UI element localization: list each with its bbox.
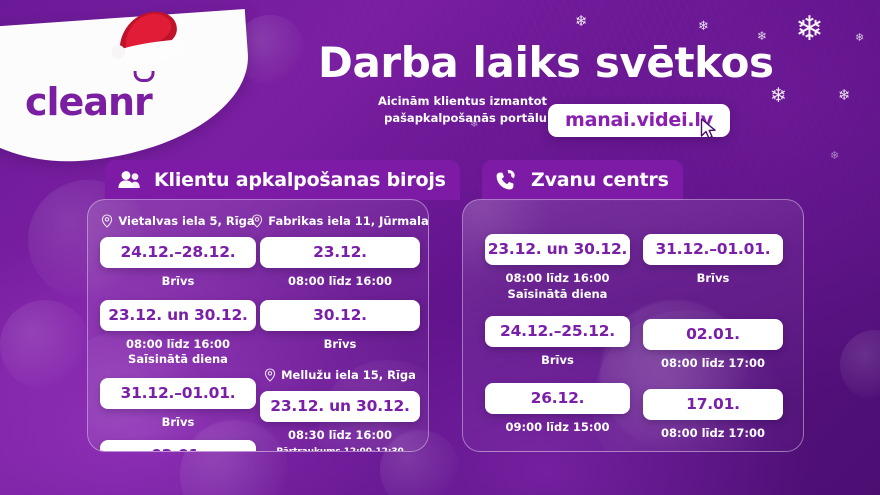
schedule-entry: 24.12.–25.12. Brīvs	[485, 316, 630, 369]
schedule-entry: 23.12. un 30.12. 08:00 līdz 16:00 Saīsin…	[485, 234, 630, 302]
hours-note: 08:00 līdz 16:00 Saīsinātā diena	[485, 271, 630, 302]
location-text: Vietalvas iela 5, Rīga	[118, 214, 254, 228]
location-text: Fabrikas iela 11, Jūrmala	[268, 214, 428, 228]
schedule-entry: 26.12. 09:00 līdz 15:00	[485, 383, 630, 436]
hours-note: Brīvs	[643, 271, 783, 287]
panel-call-center: 23.12. un 30.12. 08:00 līdz 16:00 Saīsin…	[462, 199, 804, 452]
date-chip: 23.12.	[260, 237, 420, 268]
page-subtitle-line2: pašapkalpošanās portālu	[362, 110, 547, 127]
phone-icon	[493, 167, 519, 193]
call-center-column-2: 31.12.–01.01. Brīvs 02.01. 08:00 līdz 17…	[643, 234, 783, 452]
break-note: Pārtraukums 12:00-12:30	[260, 446, 420, 452]
map-pin-icon	[251, 214, 263, 228]
logo-wordmark: cleanr	[25, 80, 152, 124]
page-subtitle-line1: Aicinām klientus izmantot	[362, 93, 547, 110]
schedule-entry: 02.01. 08:00 līdz 17:00	[100, 440, 256, 452]
snowflake-icon: ❄	[838, 88, 851, 103]
sub-location-label: Mellužu iela 15, Rīga	[264, 368, 416, 382]
santa-hat-icon	[112, 8, 184, 70]
date-chip: 23.12. un 30.12.	[260, 391, 420, 422]
panel-office: Vietalvas iela 5, Rīga 24.12.–28.12. Brī…	[87, 199, 429, 452]
date-chip: 31.12.–01.01.	[643, 234, 783, 265]
snowflake-icon: ❄	[575, 14, 588, 29]
hours-note: 08:00 līdz 16:00 Saīsinātā diena	[100, 337, 256, 368]
schedule-entry: 24.12.–28.12. Brīvs	[100, 237, 256, 290]
office-column-vietalvas: Vietalvas iela 5, Rīga 24.12.–28.12. Brī…	[100, 214, 256, 452]
schedule-entry: 30.12. Brīvs	[260, 300, 420, 353]
hours-note: 08:00 līdz 16:00	[260, 274, 420, 290]
date-chip: 24.12.–25.12.	[485, 316, 630, 347]
panel-tab-office: Klientu apkalpošanas birojs	[105, 160, 460, 200]
schedule-entry: 23.12. un 30.12. 08:30 līdz 16:00 Pārtra…	[260, 391, 420, 452]
snowflake-icon: ❄	[698, 20, 709, 33]
panel-title-office: Klientu apkalpošanas birojs	[154, 169, 446, 191]
location-label: Vietalvas iela 5, Rīga	[101, 214, 254, 228]
logo-letter-r: r	[134, 80, 152, 124]
schedule-entry: 31.12.–01.01. Brīvs	[643, 234, 783, 287]
panel-tab-call-center: Zvanu centrs	[482, 160, 683, 200]
office-column-fabrikas: Fabrikas iela 11, Jūrmala 23.12. 08:00 l…	[260, 214, 420, 452]
map-pin-icon	[101, 214, 113, 228]
date-chip: 30.12.	[260, 300, 420, 331]
schedule-entry: 02.01. 08:00 līdz 17:00	[643, 319, 783, 372]
date-chip: 23.12. un 30.12.	[100, 300, 256, 331]
date-chip: 24.12.–28.12.	[100, 237, 256, 268]
schedule-entry: 17.01. 08:00 līdz 17:00	[643, 389, 783, 442]
logo-r-glyph: r	[134, 80, 152, 124]
people-icon	[116, 167, 142, 193]
location-label: Fabrikas iela 11, Jūrmala	[251, 214, 428, 228]
sub-location-text: Mellužu iela 15, Rīga	[281, 368, 416, 382]
date-chip: 02.01.	[643, 319, 783, 350]
date-chip: 23.12. un 30.12.	[485, 234, 630, 265]
panel-title-call-center: Zvanu centrs	[531, 169, 669, 191]
promo-banner: ❄ ❄ ❄ ❄ ❄ ❄ ❄ ❄ ❄ cleanr Darba laiks svē…	[0, 0, 880, 495]
map-pin-icon	[264, 368, 276, 382]
date-chip: 31.12.–01.01.	[100, 378, 256, 409]
hours-note: 08:30 līdz 16:00	[260, 428, 420, 444]
mouse-pointer-icon	[700, 118, 717, 140]
date-chip: 02.01.	[100, 440, 256, 452]
call-center-column-1: 23.12. un 30.12. 08:00 līdz 16:00 Saīsin…	[485, 234, 630, 445]
bokeh-light	[840, 330, 880, 400]
snowflake-icon: ❄	[855, 32, 864, 43]
schedule-entry: 23.12. 08:00 līdz 16:00	[260, 237, 420, 290]
schedule-entry: 31.12.–01.01. Brīvs	[100, 378, 256, 431]
snowflake-icon: ❄	[770, 85, 787, 105]
logo-wordmark-text: clean	[25, 80, 134, 124]
schedule-entry: 23.12. un 30.12. 08:00 līdz 16:00 Saīsin…	[100, 300, 256, 368]
hours-note: 09:00 līdz 15:00	[485, 420, 630, 436]
date-chip: 17.01.	[643, 389, 783, 420]
hours-note: Brīvs	[100, 274, 256, 290]
snowflake-icon: ❄	[830, 150, 839, 161]
hours-note: Brīvs	[260, 337, 420, 353]
page-title: Darba laiks svētkos	[318, 42, 778, 84]
hours-note: Brīvs	[485, 353, 630, 369]
hours-note: Brīvs	[100, 415, 256, 431]
hours-note: 08:00 līdz 17:00	[643, 426, 783, 442]
bokeh-light	[0, 300, 90, 390]
hours-note: 08:00 līdz 17:00	[643, 356, 783, 372]
page-subtitle: Aicinām klientus izmantot pašapkalpošanā…	[362, 93, 547, 126]
date-chip: 26.12.	[485, 383, 630, 414]
snowflake-icon: ❄	[795, 12, 824, 46]
